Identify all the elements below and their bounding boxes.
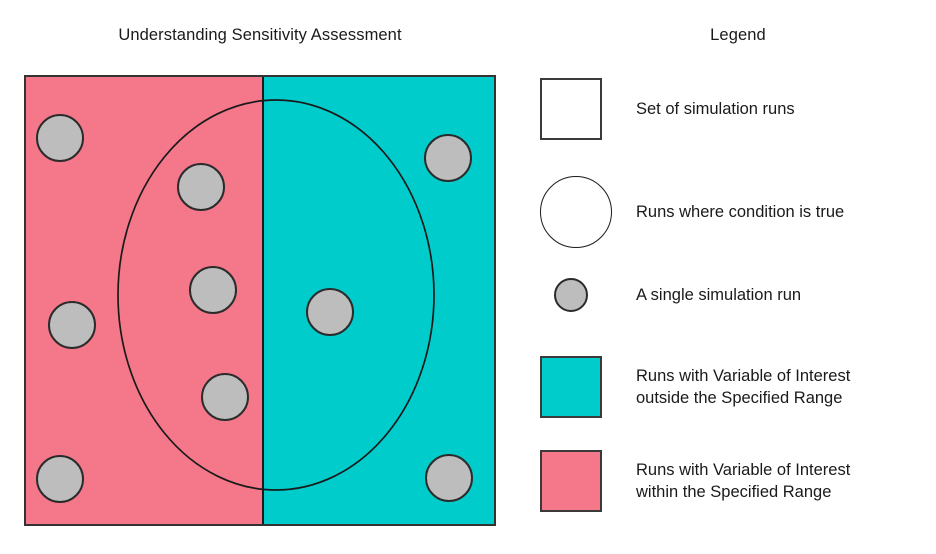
simulation-run-dot xyxy=(37,456,83,502)
legend-title: Legend xyxy=(540,26,936,45)
simulation-run-dot xyxy=(178,164,224,210)
diagram-canvas: Understanding Sensitivity Assessment Leg… xyxy=(0,0,936,554)
simulation-run-dot xyxy=(425,135,471,181)
condition-true-ellipse xyxy=(118,100,434,490)
legend-glyph-wrap xyxy=(540,278,636,312)
simulation-run-dot xyxy=(426,455,472,501)
white-circle-icon xyxy=(540,176,612,248)
legend: Set of simulation runs Runs where condit… xyxy=(540,72,936,542)
legend-item-set-of-simulation-runs: Set of simulation runs xyxy=(540,78,936,140)
white-square-icon xyxy=(540,78,602,140)
simulation-run-dots xyxy=(37,115,472,502)
legend-item-label: Set of simulation runs xyxy=(636,98,795,120)
legend-glyph-wrap xyxy=(540,356,636,418)
legend-item-outside-specified-range: Runs with Variable of Interest outside t… xyxy=(540,356,936,418)
sensitivity-diagram xyxy=(24,75,496,526)
legend-glyph-wrap xyxy=(540,78,636,140)
simulation-run-dot xyxy=(202,374,248,420)
simulation-run-dot xyxy=(190,267,236,313)
legend-glyph-wrap xyxy=(540,176,636,248)
legend-item-within-specified-range: Runs with Variable of Interest within th… xyxy=(540,450,936,512)
cyan-square-icon xyxy=(540,356,602,418)
diagram-overlay xyxy=(24,75,496,526)
legend-item-single-simulation-run: A single simulation run xyxy=(540,278,936,312)
legend-glyph-wrap xyxy=(540,450,636,512)
legend-item-runs-where-condition-is-true: Runs where condition is true xyxy=(540,176,936,248)
simulation-run-dot xyxy=(37,115,83,161)
gray-dot-icon xyxy=(554,278,588,312)
legend-item-label: Runs with Variable of Interest outside t… xyxy=(636,365,850,409)
pink-square-icon xyxy=(540,450,602,512)
legend-item-label: Runs with Variable of Interest within th… xyxy=(636,459,850,503)
simulation-run-dot xyxy=(307,289,353,335)
legend-item-label: Runs where condition is true xyxy=(636,201,844,223)
legend-item-label: A single simulation run xyxy=(636,284,801,306)
page-title: Understanding Sensitivity Assessment xyxy=(0,26,520,45)
simulation-run-dot xyxy=(49,302,95,348)
